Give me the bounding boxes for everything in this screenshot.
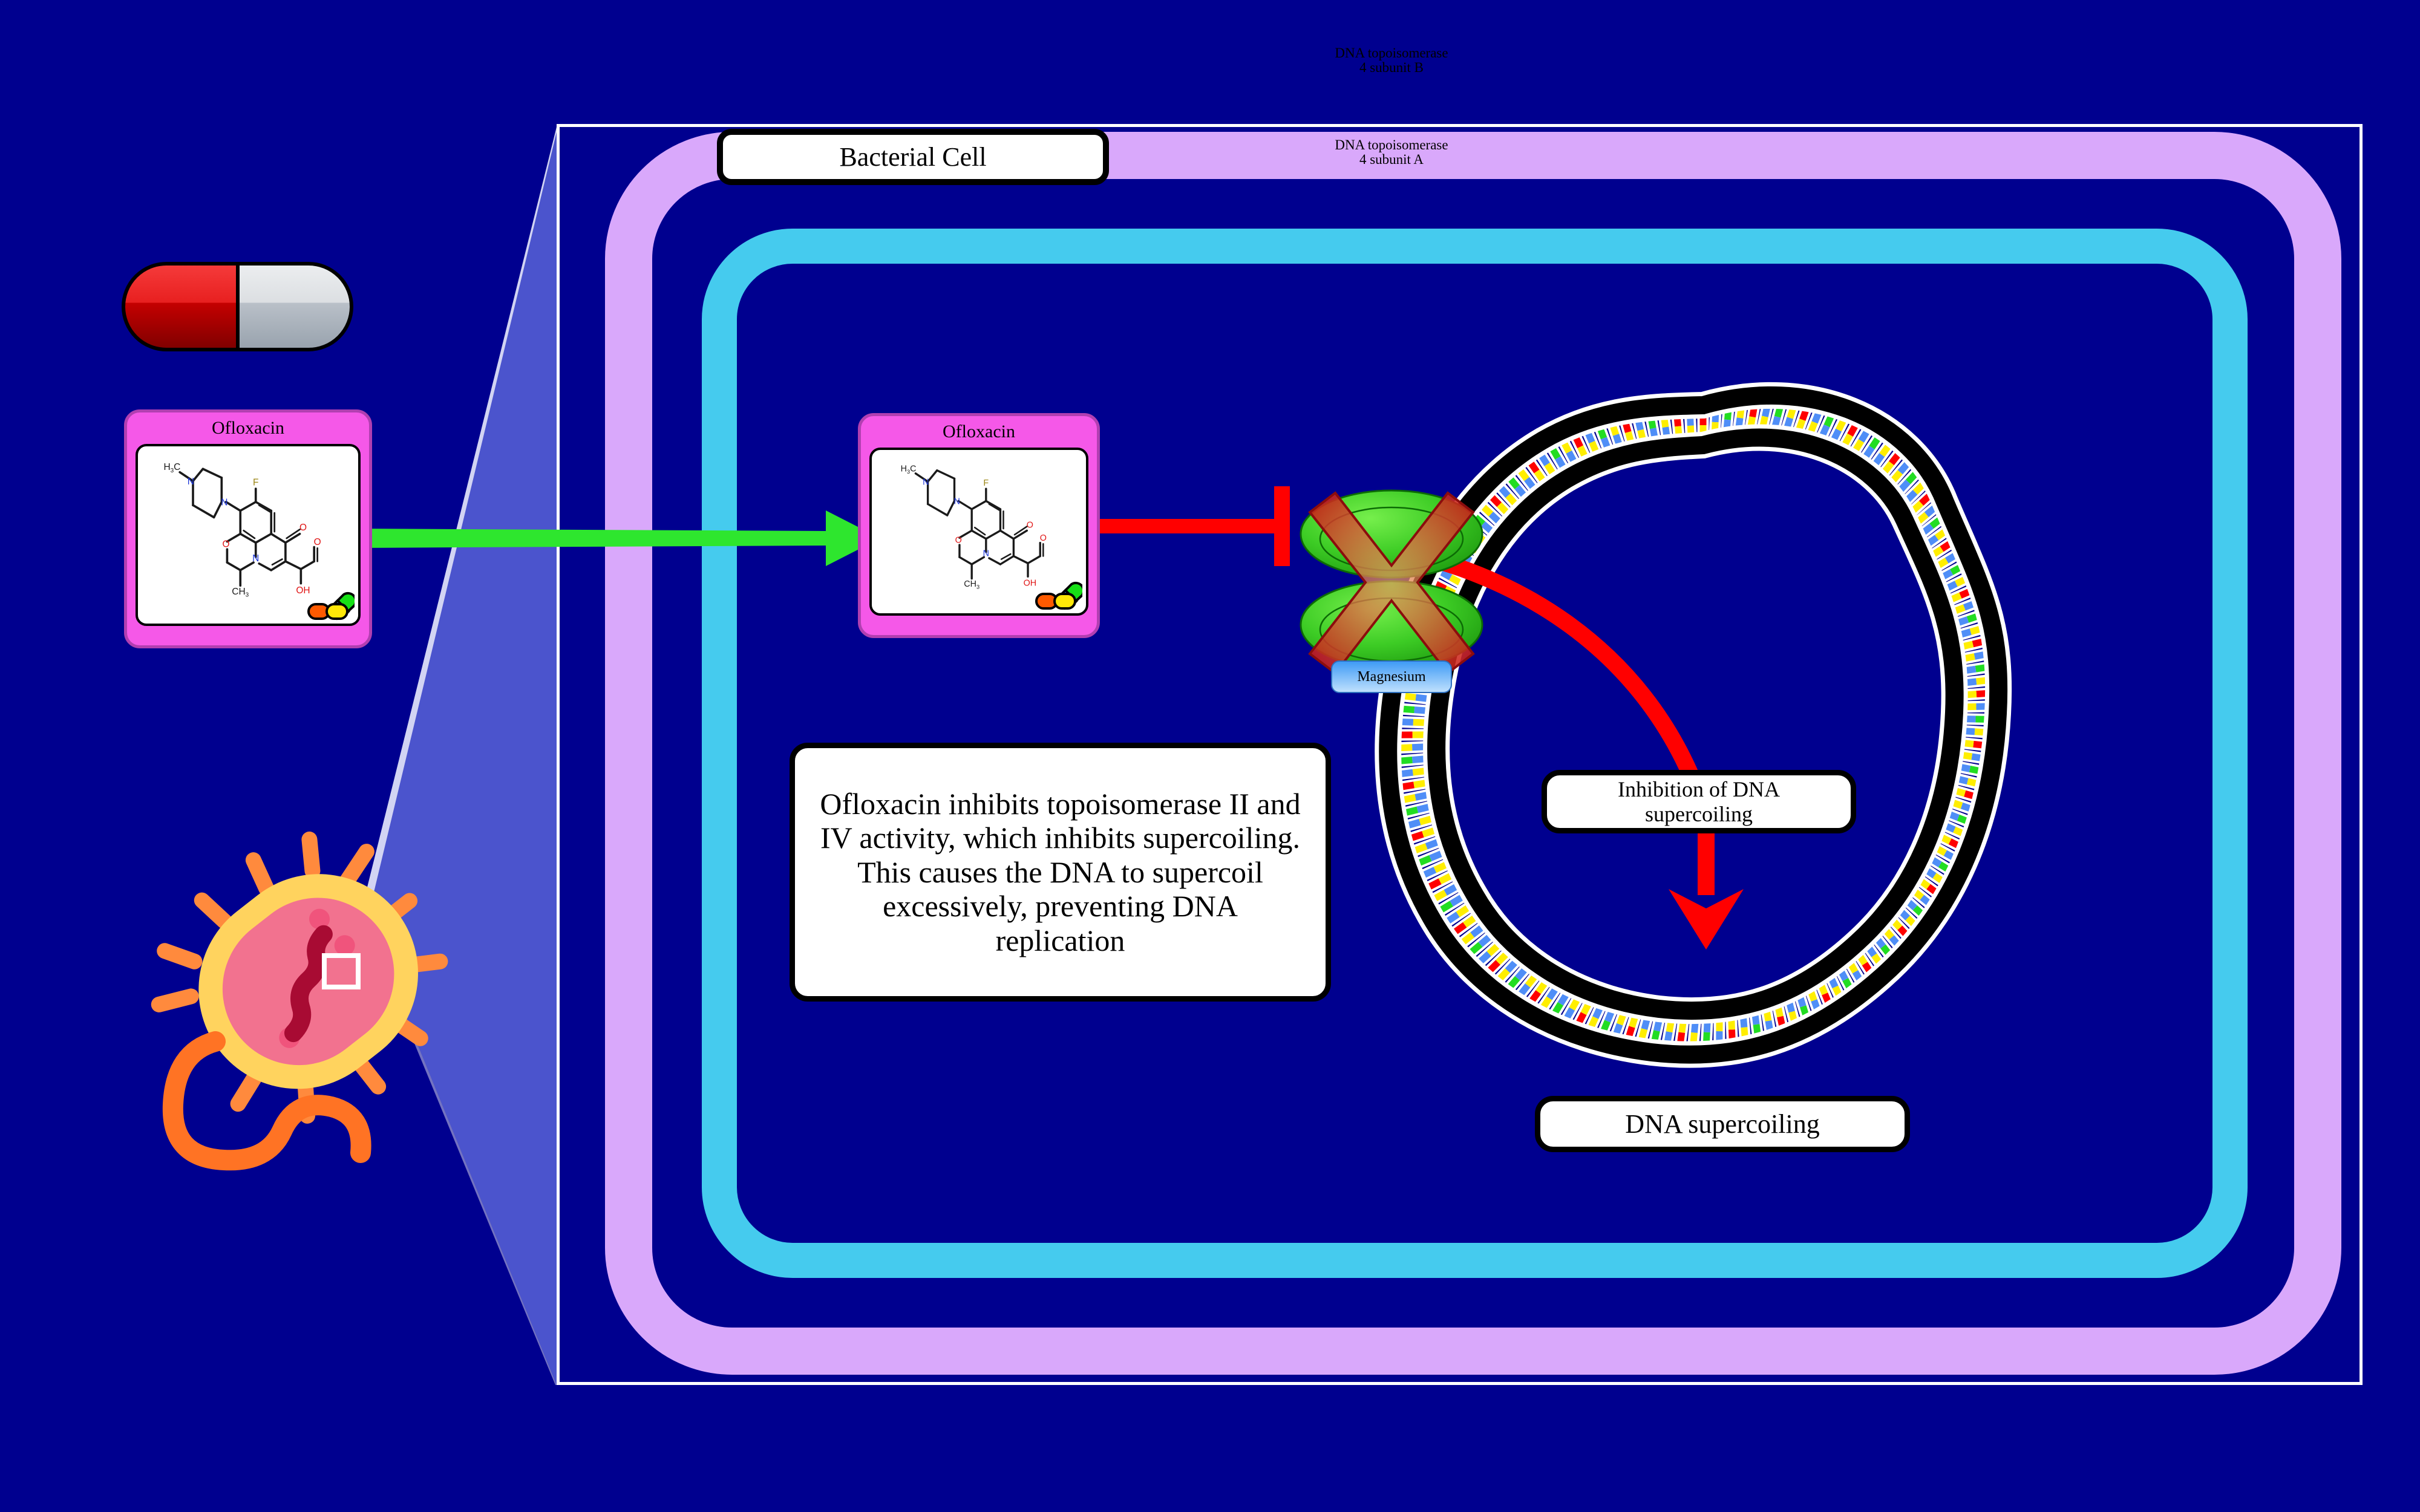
svg-text:CH3: CH3 — [232, 587, 249, 599]
svg-text:F: F — [983, 478, 989, 488]
svg-text:O: O — [314, 537, 321, 547]
diagram-canvas: Bacterial Cell — [0, 0, 2420, 1512]
svg-text:O: O — [955, 536, 962, 546]
ofloxacin-card-intracellular[interactable]: Ofloxacin — [858, 413, 1100, 638]
svg-text:H3C: H3C — [901, 464, 917, 474]
capsule-pill-icon — [121, 261, 354, 352]
ofloxacin-structure-panel-2: H3C N N F O N CH3 O O OH — [869, 448, 1088, 616]
mechanism-description-box: Ofloxacin inhibits topoisomerase II and … — [790, 743, 1331, 1002]
svg-text:N: N — [188, 477, 194, 487]
svg-text:H3C: H3C — [163, 462, 180, 474]
inhibition-bar-arrow — [1095, 484, 1307, 569]
svg-text:CH3: CH3 — [964, 579, 979, 590]
inhibition-label-line1: Inhibition of DNA — [1618, 777, 1780, 801]
dna-supercoiling-label: DNA supercoiling — [1535, 1096, 1910, 1152]
svg-text:O: O — [223, 539, 230, 550]
ofloxacin-card-title-2: Ofloxacin — [861, 416, 1097, 448]
svg-text:O: O — [1040, 533, 1047, 543]
ofloxacin-card-extracellular[interactable]: Ofloxacin — [124, 409, 372, 648]
svg-text:O: O — [1027, 520, 1033, 530]
drug-entry-arrow — [348, 502, 892, 575]
bacterial-cell-title: Bacterial Cell — [717, 129, 1109, 185]
svg-text:N: N — [221, 497, 227, 507]
svg-text:O: O — [299, 523, 307, 533]
ofloxacin-card-title: Ofloxacin — [127, 412, 369, 444]
topoisomerase-subunit-b-label: DNA topoisomerase4 subunit B — [1298, 46, 1485, 76]
svg-text:N: N — [923, 477, 929, 487]
bacterium-illustration — [139, 780, 478, 1191]
svg-text:F: F — [253, 478, 258, 488]
svg-text:N: N — [252, 553, 259, 564]
topoisomerase-complex-icon — [1298, 481, 1485, 680]
pill-icon — [306, 582, 355, 621]
pill-icon-2 — [1034, 572, 1082, 611]
svg-text:N: N — [983, 549, 989, 559]
ofloxacin-structure-panel: H3C N N F O N CH3 O O OH — [136, 444, 361, 626]
svg-text:N: N — [954, 497, 960, 506]
inhibition-label-line2: supercoiling — [1645, 802, 1753, 826]
inhibition-of-supercoiling-label: Inhibition of DNA supercoiling — [1542, 770, 1856, 833]
magnesium-cofactor-label: Magnesium — [1331, 660, 1452, 693]
